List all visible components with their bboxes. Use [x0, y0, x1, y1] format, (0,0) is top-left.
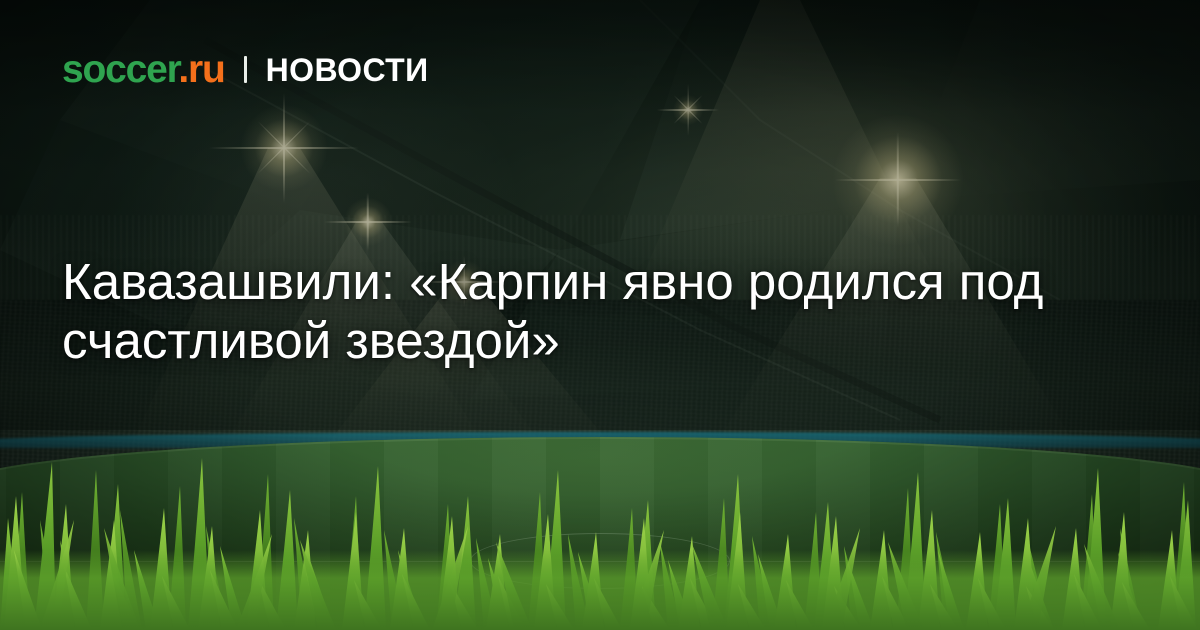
- site-header: soccer.ru НОВОСТИ: [62, 50, 429, 89]
- header-separator: [244, 56, 247, 83]
- foreground-grass: [0, 400, 1200, 630]
- news-cover-card: soccer.ru НОВОСТИ Кавазашвили: «Карпин я…: [0, 0, 1200, 630]
- logo-text-ru: .ru: [178, 48, 224, 91]
- section-label-news[interactable]: НОВОСТИ: [266, 54, 429, 86]
- site-logo[interactable]: soccer.ru: [62, 50, 225, 89]
- logo-text-soccer: soccer: [62, 48, 178, 91]
- article-headline: Кавазашвили: «Карпин явно родился под сч…: [62, 252, 1147, 370]
